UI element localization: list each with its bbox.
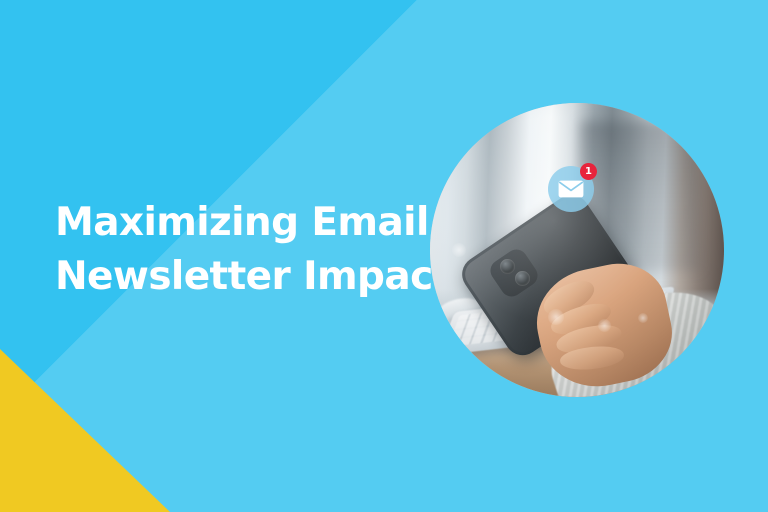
envelope-icon bbox=[558, 180, 584, 198]
page-title: Maximizing Email Newsletter Impact bbox=[55, 196, 435, 304]
headline-line-1: Maximizing Email bbox=[55, 196, 435, 250]
headline-line-2: Newsletter Impact bbox=[55, 250, 435, 304]
hero-photo-circle bbox=[430, 103, 724, 397]
unread-count-badge: 1 bbox=[580, 163, 597, 180]
newsletter-banner: Maximizing Email Newsletter Impact bbox=[0, 0, 768, 512]
photo-vignette bbox=[430, 103, 724, 397]
email-notification-badge: 1 bbox=[548, 166, 594, 212]
